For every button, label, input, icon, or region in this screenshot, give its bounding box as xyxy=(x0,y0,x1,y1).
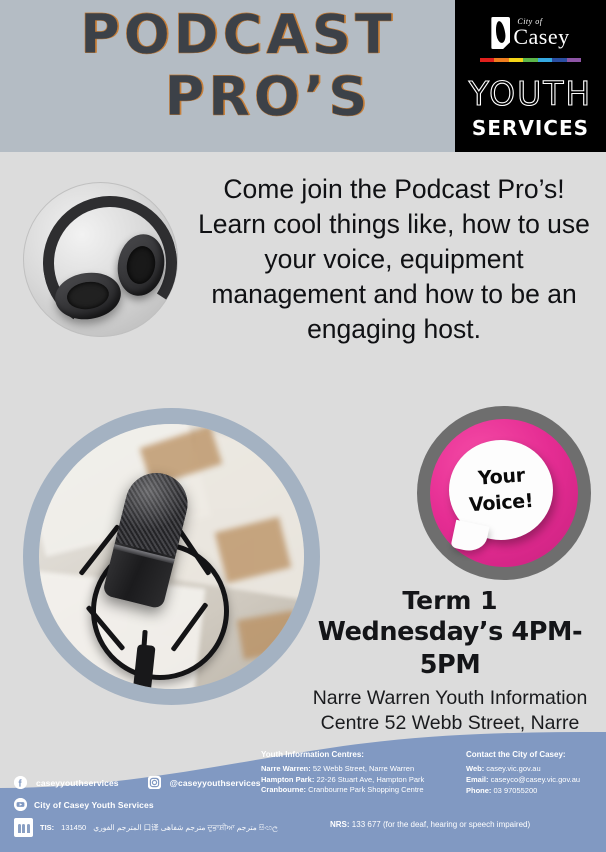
instagram-icon[interactable] xyxy=(148,776,161,789)
your-voice-badge: Your Voice! xyxy=(417,406,591,580)
city-of-casey-logo: City of Casey xyxy=(455,12,606,54)
microphone-photo xyxy=(23,408,320,705)
microphone-photo-inner xyxy=(39,424,304,689)
youth-wordmark: YOUTH xyxy=(455,74,606,113)
yic-address: 52 Webb Street, Narre Warren xyxy=(313,764,414,773)
nrs-row: NRS: 133 677 (for the deaf, hearing or s… xyxy=(330,820,530,829)
tis-national-icon xyxy=(14,818,33,837)
casey-wordmark: City of Casey xyxy=(513,18,569,48)
acoustic-panel-3 xyxy=(237,610,301,659)
facebook-handle[interactable]: caseyyouthservices xyxy=(36,778,119,788)
contact-heading: Contact the City of Casey: xyxy=(466,750,606,759)
speech-bubble-icon: Your Voice! xyxy=(449,440,553,540)
tis-translating-row: TIS: 131450 المترجم الفوري 口译 مترجم شفاه… xyxy=(14,818,278,837)
intro-paragraph: Come join the Podcast Pro’s! Learn cool … xyxy=(188,172,600,347)
casey-feather-icon xyxy=(491,17,510,49)
poster-title-line-2: PRO’S xyxy=(40,68,496,126)
nrs-value: 133 677 (for the deaf, hearing or speech… xyxy=(352,820,530,829)
facebook-icon[interactable] xyxy=(14,776,27,789)
tis-label: TIS: xyxy=(40,823,54,832)
schedule-label: Wednesday’s 4PM-5PM xyxy=(300,616,600,682)
casey-name-label: Casey xyxy=(513,26,569,48)
contact-block: Contact the City of Casey: Web: casey.vi… xyxy=(466,750,606,796)
social-row-primary: caseyyouthservices @caseyyouthservices xyxy=(14,776,261,789)
contact-phone-value[interactable]: 03 97055200 xyxy=(494,786,538,795)
headphones-photo xyxy=(23,182,178,337)
your-voice-line-1: Your xyxy=(477,462,525,491)
yic-address: 22-26 Stuart Ave, Hampton Park xyxy=(316,775,424,784)
contact-web-label: Web: xyxy=(466,764,484,773)
tis-number: 131450 xyxy=(61,823,86,832)
contact-row-phone: Phone: 03 97055200 xyxy=(466,785,606,796)
term-label: Term 1 xyxy=(300,586,600,616)
yic-row: Hampton Park: 22-26 Stuart Ave, Hampton … xyxy=(261,775,461,786)
contact-row-email: Email: caseyco@casey.vic.gov.au xyxy=(466,774,606,785)
contact-web-value[interactable]: casey.vic.gov.au xyxy=(486,764,540,773)
youtube-channel-name[interactable]: City of Casey Youth Services xyxy=(34,800,154,810)
your-voice-line-2: Voice! xyxy=(468,488,534,518)
yic-name: Cranbourne: xyxy=(261,785,306,794)
contact-email-label: Email: xyxy=(466,775,489,784)
yic-row: Cranbourne: Cranbourne Park Shopping Cen… xyxy=(261,785,461,796)
contact-email-value[interactable]: caseyco@casey.vic.gov.au xyxy=(491,775,580,784)
services-wordmark: SERVICES xyxy=(455,116,606,140)
instagram-handle[interactable]: @caseyyouthservices xyxy=(170,778,261,788)
footer-content: caseyyouthservices @caseyyouthservices C… xyxy=(0,744,606,852)
contact-row-web: Web: casey.vic.gov.au xyxy=(466,763,606,774)
youth-information-centres-heading: Youth Information Centres: xyxy=(261,750,461,759)
poster-canvas: PODCAST PRO’S City of Casey YOUTH xyxy=(0,0,606,852)
contact-phone-label: Phone: xyxy=(466,786,491,795)
poster-header: PODCAST PRO’S City of Casey YOUTH xyxy=(0,0,606,152)
yic-address: Cranbourne Park Shopping Centre xyxy=(308,785,424,794)
poster-title-line-1: PODCAST xyxy=(10,6,466,64)
youtube-icon[interactable] xyxy=(14,798,27,811)
youth-information-centres-block: Youth Information Centres: Narre Warren:… xyxy=(261,750,461,796)
yic-row: Narre Warren: 52 Webb Street, Narre Warr… xyxy=(261,764,461,775)
yic-name: Hampton Park: xyxy=(261,775,314,784)
yic-name: Narre Warren: xyxy=(261,764,311,773)
rainbow-stripe-icon xyxy=(480,58,581,62)
your-voice-pink-circle: Your Voice! xyxy=(430,419,578,567)
poster-title-block: PODCAST PRO’S xyxy=(0,0,456,152)
social-row-secondary: City of Casey Youth Services xyxy=(14,798,154,811)
tis-languages: المترجم الفوري 口译 مترجم شفاهی ਦੁਭਾਸ਼ੀਆ م… xyxy=(93,822,278,833)
city-of-casey-youth-services-logo: City of Casey YOUTH SERVICES xyxy=(455,0,606,152)
nrs-label: NRS: xyxy=(330,820,350,829)
